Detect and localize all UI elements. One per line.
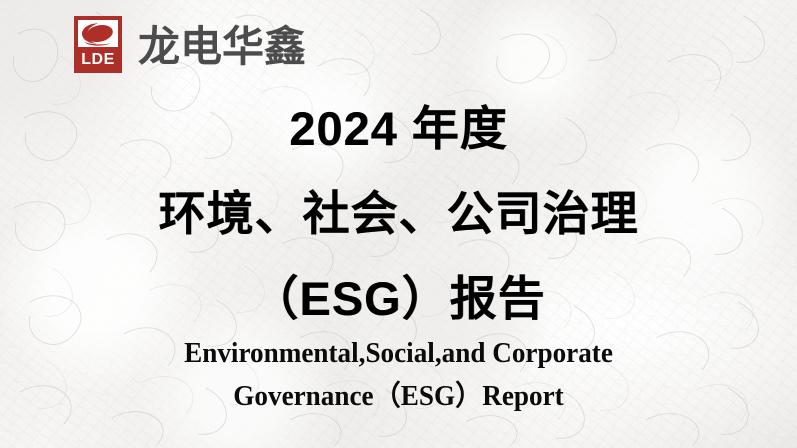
subtitle-line-1: Environmental,Social,and Corporate: [12, 332, 785, 375]
report-subtitle-en: Environmental,Social,and Corporate Gover…: [0, 332, 797, 418]
report-title: 2024 年度 环境、社会、公司治理 （ESG）报告: [0, 86, 797, 341]
esg-report-cover-slide: LDE 龙电华鑫 2024 年度 环境、社会、公司治理 （ESG）报告 Envi…: [0, 0, 797, 448]
lde-logo-mark: LDE: [74, 16, 122, 73]
subtitle-line-2: Governance（ESG）Report: [12, 375, 785, 418]
brand-lockup: LDE 龙电华鑫: [74, 16, 306, 73]
logo-swoosh-container: [78, 20, 118, 47]
lde-wordmark: LDE: [81, 48, 115, 72]
swoosh-ellipse-icon: [78, 20, 118, 47]
title-line-1: 2024 年度: [0, 86, 797, 171]
title-line-3: （ESG）报告: [0, 256, 797, 341]
title-line-2: 环境、社会、公司治理: [0, 171, 797, 256]
company-name-cn: 龙电华鑫: [138, 23, 306, 71]
